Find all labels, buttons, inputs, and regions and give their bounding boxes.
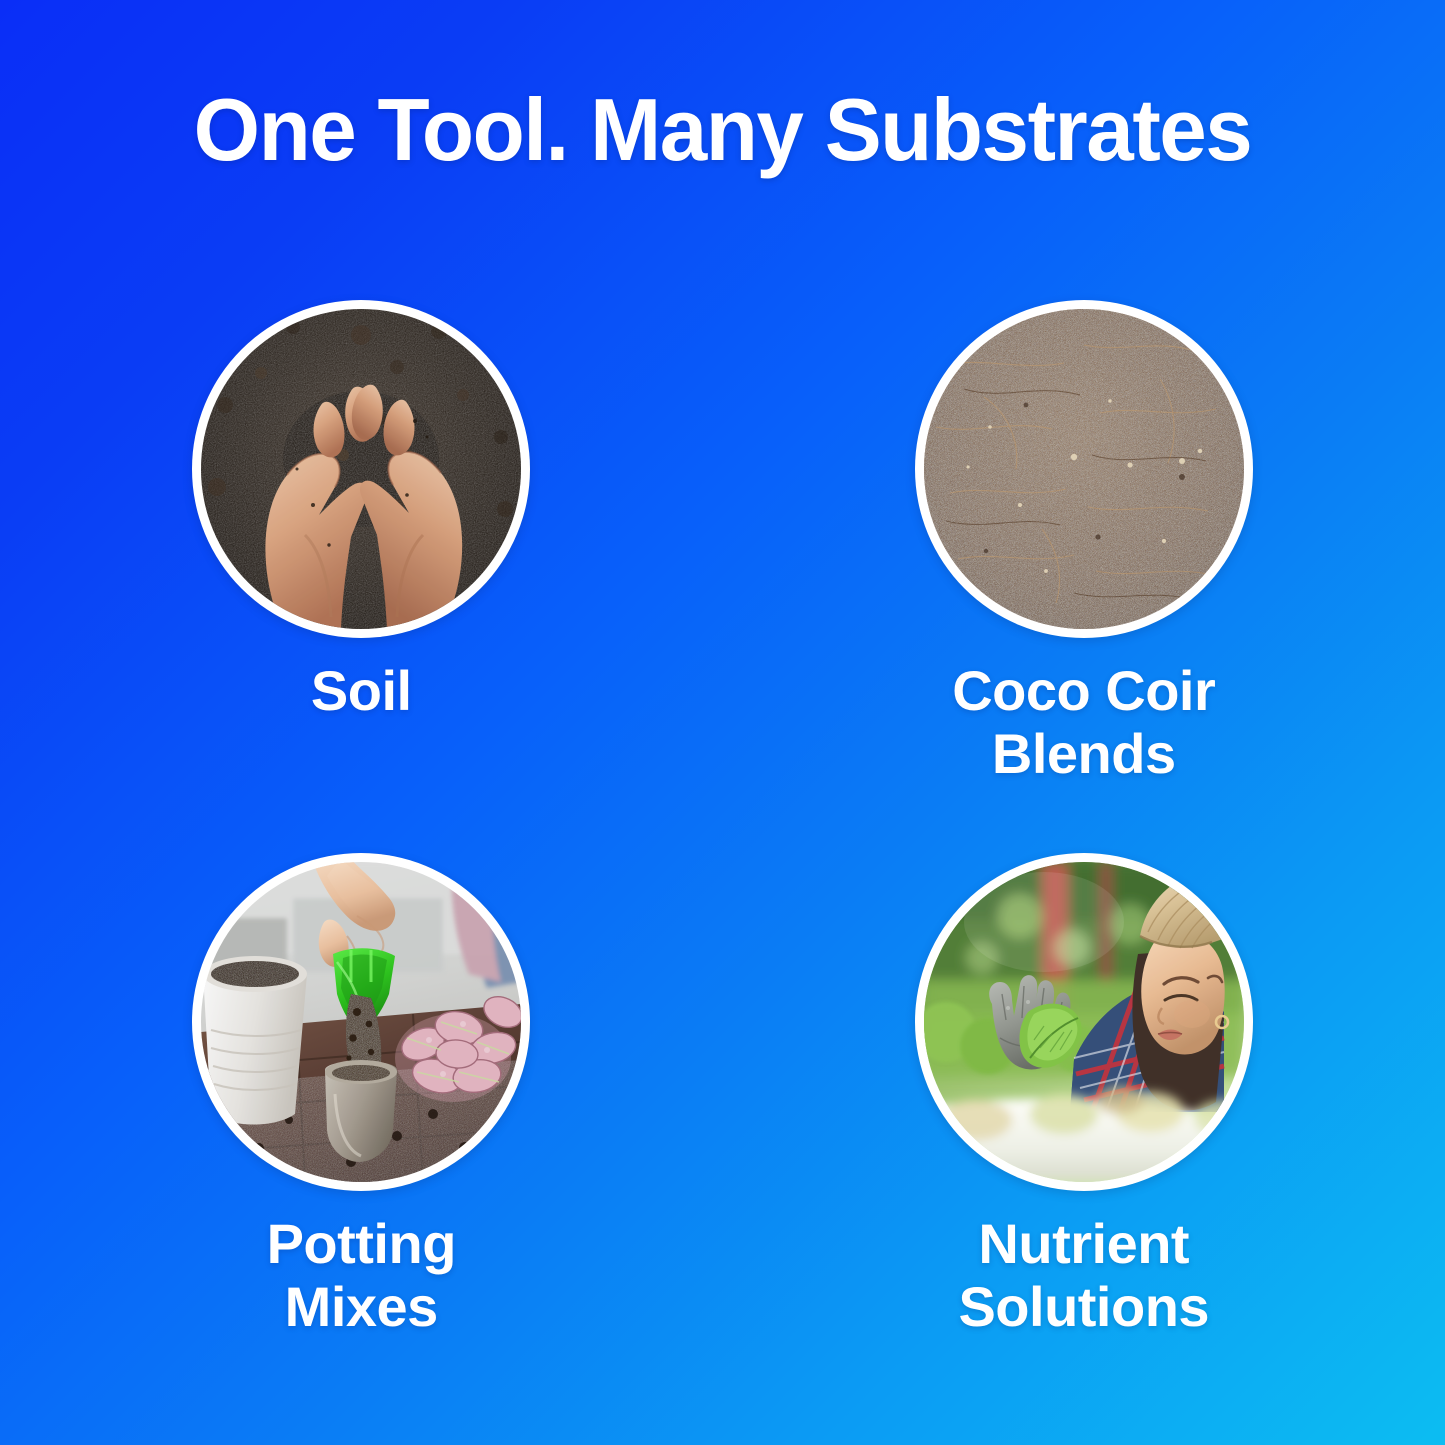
substrate-label-potting-mixes: Potting Mixes xyxy=(267,1213,456,1338)
substrate-label-nutrient-solutions: Nutrient Solutions xyxy=(958,1213,1209,1338)
coco-coir-texture-photo xyxy=(924,309,1244,629)
woman-in-straw-hat-hydroponic-lettuce-photo xyxy=(924,862,1244,1182)
label-line-1: Nutrient xyxy=(958,1213,1209,1276)
potting-mixes-circle-frame xyxy=(192,853,530,1191)
page-title: One Tool. Many Substrates xyxy=(22,86,1424,174)
coco-coir-circle-frame xyxy=(915,300,1253,638)
nutrient-solutions-circle-frame xyxy=(915,853,1253,1191)
hand-with-green-trowel-potting-photo xyxy=(201,862,521,1182)
label-line-1: Potting xyxy=(267,1213,456,1276)
label-line-2: Mixes xyxy=(267,1276,456,1339)
substrate-label-soil: Soil xyxy=(311,660,412,723)
substrate-grid: Soil xyxy=(0,300,1445,1360)
soil-circle-frame xyxy=(192,300,530,638)
label-line-2: Blends xyxy=(952,723,1215,786)
label-line-1: Soil xyxy=(311,660,412,723)
substrate-label-coco-coir-blends: Coco Coir Blends xyxy=(952,660,1215,785)
substrate-card-soil[interactable]: Soil xyxy=(81,300,641,830)
poster-canvas: One Tool. Many Substrates xyxy=(0,0,1445,1445)
hands-holding-dark-soil-photo xyxy=(201,309,521,629)
substrate-card-potting-mixes[interactable]: Potting Mixes xyxy=(81,830,641,1360)
label-line-1: Coco Coir xyxy=(952,660,1215,723)
substrate-card-coco-coir-blends[interactable]: Coco Coir Blends xyxy=(804,300,1364,830)
substrate-card-nutrient-solutions[interactable]: Nutrient Solutions xyxy=(804,830,1364,1360)
label-line-2: Solutions xyxy=(958,1276,1209,1339)
